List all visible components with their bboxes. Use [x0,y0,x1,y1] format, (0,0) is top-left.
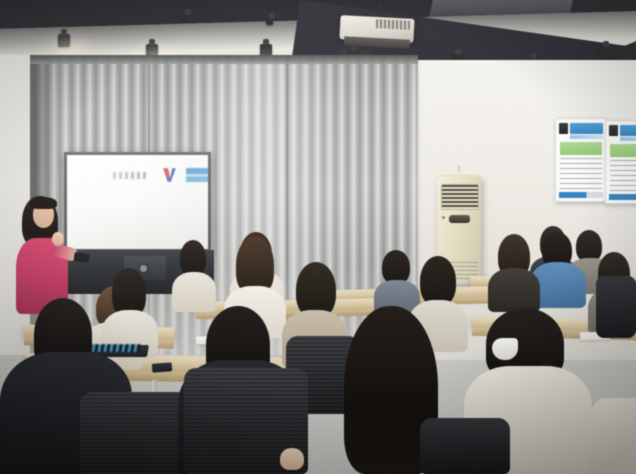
poster-subheader [620,137,636,141]
projection-screen-surface [67,155,208,249]
slide-text-line [113,172,147,179]
track-spotlight-3 [182,14,189,21]
poster-icon [609,125,618,136]
poster-text-lines [610,160,636,191]
poster-footer-bar [559,192,603,198]
slide-logo-mark [163,168,176,182]
presenter-fringe [30,197,57,209]
curtain-valance-shadow [30,55,418,63]
slide-logo-block [186,168,208,182]
classroom-photo [0,0,636,474]
wall-poster-right [605,120,636,204]
chair-front-right [420,418,510,474]
projection-screen [64,152,211,252]
presenter-hand [52,232,64,246]
av-cabinet-knob [140,265,147,272]
face-mask [492,338,518,360]
wall-poster-left [555,118,607,202]
air-conditioner-grille [441,184,479,210]
air-conditioner-control-panel [449,215,470,223]
poster-footer-bar [609,194,636,200]
poster-green-band [610,144,636,157]
air-conditioner-indicator [442,216,445,219]
smartphone [152,362,173,372]
poster-subheader [570,135,603,139]
track-spotlight-5 [266,18,273,25]
track-spotlight-9 [600,46,612,59]
chair-far-right [596,276,636,338]
poster-green-band [560,142,602,155]
poster-header-bar [620,125,636,136]
poster-header-bar [570,123,603,134]
hand [280,448,304,470]
chair-front-left-mesh [80,392,190,474]
projector-vent [376,19,410,30]
poster-icon [559,123,568,134]
poster-text-lines [560,158,602,189]
